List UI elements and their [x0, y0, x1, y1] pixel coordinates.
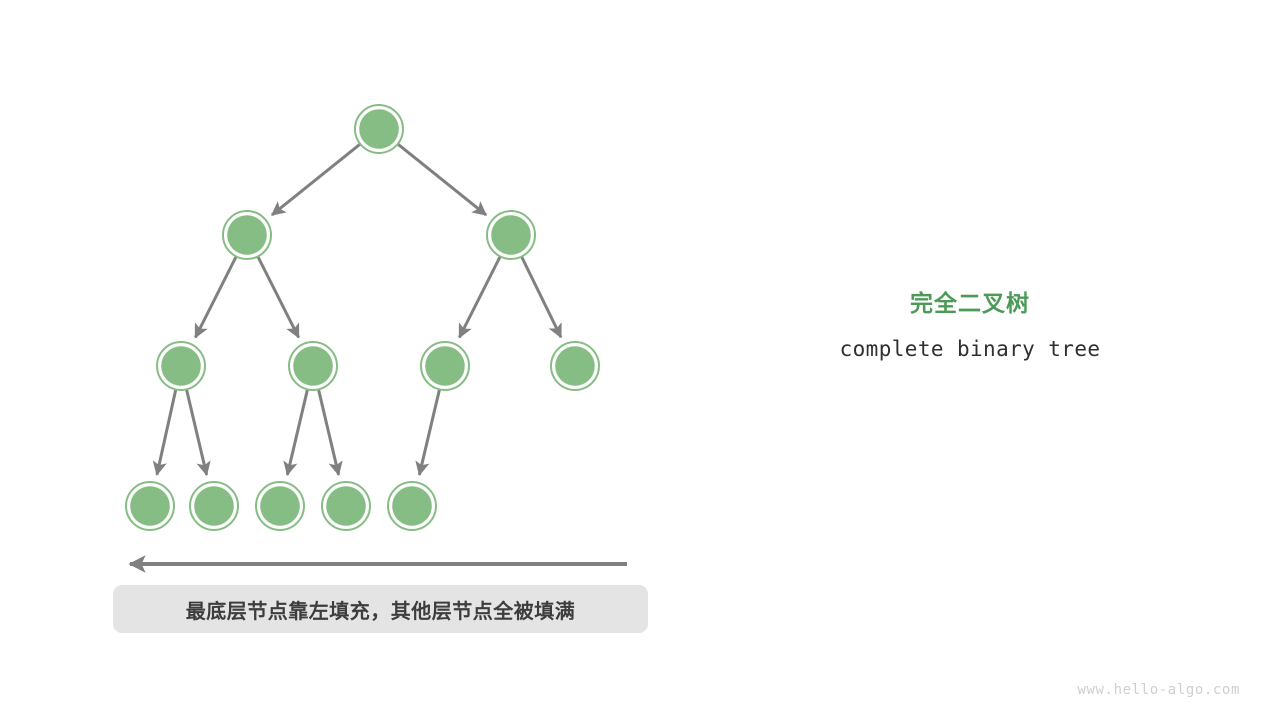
- tree-node-fill: [326, 486, 366, 526]
- tree-edge: [195, 257, 236, 338]
- tree-node: [223, 211, 271, 259]
- tree-node-fill: [161, 346, 201, 386]
- tree-edge: [157, 390, 176, 475]
- legend-subtitle: complete binary tree: [760, 336, 1180, 362]
- tree-node: [289, 342, 337, 390]
- tree-node: [256, 482, 304, 530]
- tree-node: [487, 211, 535, 259]
- tree-node: [157, 342, 205, 390]
- caption-text: 最底层节点靠左填充，其他层节点全被填满: [186, 595, 576, 624]
- tree-node: [421, 342, 469, 390]
- tree-node: [551, 342, 599, 390]
- tree-node-fill: [555, 346, 595, 386]
- tree-edge: [419, 390, 439, 475]
- tree-edge: [319, 390, 339, 475]
- tree-node: [355, 105, 403, 153]
- tree-node-fill: [491, 215, 531, 255]
- tree-edge: [522, 257, 561, 337]
- legend-title: 完全二叉树: [760, 288, 1180, 318]
- tree-node-fill: [194, 486, 234, 526]
- tree-node-fill: [130, 486, 170, 526]
- tree-edge: [398, 144, 486, 215]
- watermark: www.hello-algo.com: [1077, 682, 1240, 698]
- tree-node-fill: [359, 109, 399, 149]
- tree-node: [126, 482, 174, 530]
- tree-node-fill: [425, 346, 465, 386]
- tree-edge: [272, 144, 360, 215]
- tree-node: [190, 482, 238, 530]
- tree-node: [322, 482, 370, 530]
- tree-edge: [459, 257, 500, 338]
- tree-node-fill: [293, 346, 333, 386]
- tree-node: [388, 482, 436, 530]
- legend-block: 完全二叉树 complete binary tree: [760, 288, 1180, 362]
- tree-edge: [258, 257, 299, 338]
- tree-node-fill: [392, 486, 432, 526]
- caption-pill: 最底层节点靠左填充，其他层节点全被填满: [113, 585, 648, 633]
- tree-node-fill: [227, 215, 267, 255]
- tree-node-fill: [260, 486, 300, 526]
- tree-node-layer: [126, 105, 599, 530]
- tree-edge: [287, 390, 307, 475]
- tree-edge-layer: [157, 144, 561, 475]
- tree-edge: [187, 390, 207, 475]
